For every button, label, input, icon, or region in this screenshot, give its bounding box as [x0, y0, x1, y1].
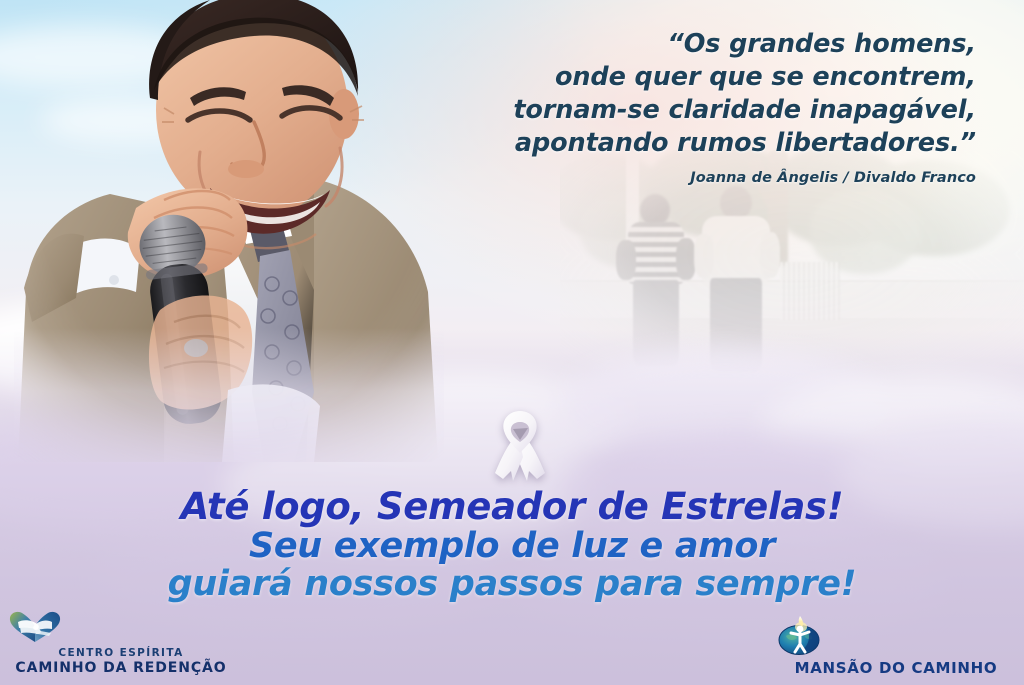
quote-line-4: apontando rumos libertadores.”	[416, 127, 976, 160]
quote-line-3: tornam-se claridade inapagável,	[416, 94, 976, 127]
quote-text: “Os grandes homens, onde quer que se enc…	[416, 28, 976, 160]
quote-line-1: “Os grandes homens,	[416, 28, 976, 61]
logo-left-line-2: CAMINHO DA REDENÇÃO	[6, 660, 236, 677]
globe-figure-icon	[776, 616, 1016, 656]
memorial-poster: “Os grandes homens, onde quer que se enc…	[0, 0, 1024, 685]
quote-author: Joanna de Ângelis / Divaldo Franco	[416, 170, 976, 186]
headline-line-1: Até logo, Semeador de Estrelas!	[0, 487, 1024, 527]
logo-mansao-do-caminho: MANSÃO DO CAMINHO	[776, 616, 1016, 677]
quote-line-2: onde quer que se encontrem,	[416, 61, 976, 94]
portrait-man-with-microphone	[14, 0, 444, 462]
logo-left-line-1: CENTRO ESPÍRITA	[6, 647, 236, 660]
headline-block: Até logo, Semeador de Estrelas! Seu exem…	[0, 487, 1024, 603]
memorial-ribbon-icon	[489, 409, 551, 487]
headline-line-2: Seu exemplo de luz e amor	[0, 527, 1024, 565]
logo-right-line-1: MANSÃO DO CAMINHO	[776, 659, 1016, 677]
logo-centro-espirita: CENTRO ESPÍRITA CAMINHO DA REDENÇÃO	[6, 610, 236, 677]
hands-heart-icon	[6, 610, 236, 644]
headline-line-3: guiará nossos passos para sempre!	[0, 565, 1024, 603]
